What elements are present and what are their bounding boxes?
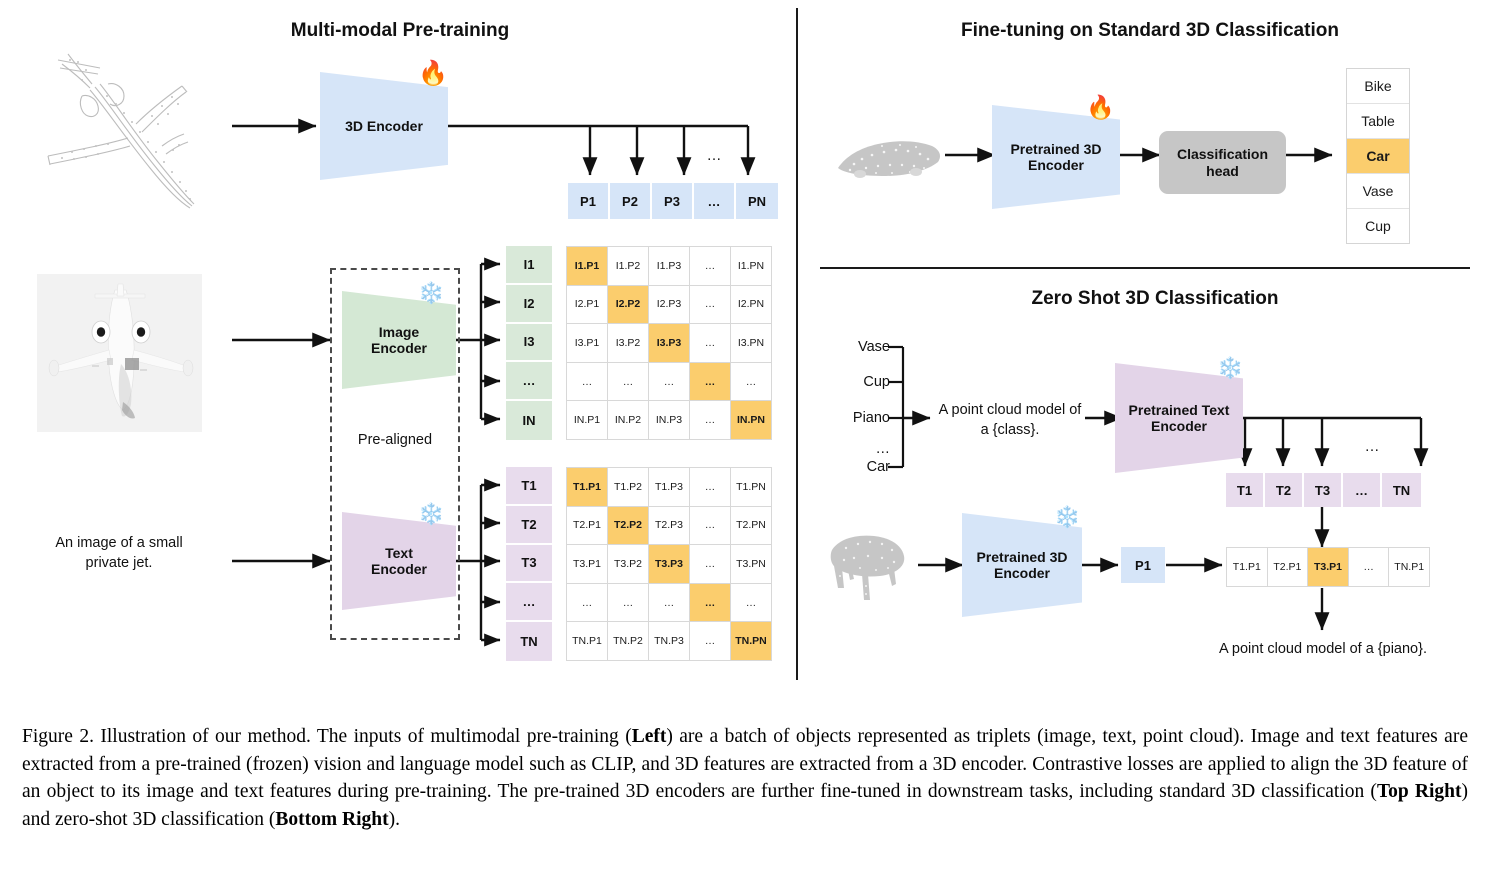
zeroshot-score-cell[interactable]: TN.P1 (1389, 548, 1430, 587)
class-list-item[interactable]: Table (1347, 104, 1409, 139)
image-similarity-cell[interactable]: … (567, 363, 608, 402)
text-similarity-cell[interactable]: T2.P1 (567, 507, 608, 546)
image-similarity-cell[interactable]: … (690, 286, 731, 325)
encoder-3d[interactable]: 3D Encoder (320, 72, 448, 180)
i-label[interactable]: IN (506, 401, 552, 440)
image-feature-label-column: I1 I2 I3 … IN (506, 246, 552, 440)
image-similarity-cell[interactable]: IN.P1 (567, 401, 608, 440)
image-similarity-cell[interactable]: I1.P2 (608, 247, 649, 286)
t-label[interactable]: T3 (506, 545, 552, 584)
pretrained-3d-encoder-finetune[interactable]: Pretrained 3D Encoder (992, 105, 1120, 209)
text-similarity-cell[interactable]: T2.P2 (608, 507, 649, 546)
classification-output-list: BikeTableCarVaseCup (1346, 68, 1410, 244)
zeroshot-p-token-box: P1 (1121, 547, 1165, 583)
zeroshot-class-name: … (834, 440, 890, 460)
p-token[interactable]: PN (736, 183, 778, 219)
zeroshot-p-token[interactable]: P1 (1121, 547, 1165, 583)
text-similarity-cell[interactable]: … (690, 545, 731, 584)
figure-caption: Figure 2. Illustration of our method. Th… (22, 723, 1468, 834)
image-similarity-cell[interactable]: I2.P3 (649, 286, 690, 325)
text-similarity-cell[interactable]: … (690, 622, 731, 661)
image-similarity-cell[interactable]: … (690, 401, 731, 440)
image-similarity-cell[interactable]: … (690, 324, 731, 363)
horizontal-divider (820, 267, 1470, 269)
image-similarity-cell[interactable]: I1.P1 (567, 247, 608, 286)
text-similarity-cell[interactable]: … (731, 584, 772, 623)
text-similarity-cell[interactable]: … (690, 584, 731, 623)
text-similarity-cell[interactable]: … (567, 584, 608, 623)
snowflake-icon-image-encoder: ❄️ (418, 283, 444, 304)
piano-point-cloud (824, 524, 920, 608)
caption-emphasis: Top Right (1377, 781, 1462, 802)
i-label[interactable]: I1 (506, 246, 552, 285)
zeroshot-t-token[interactable]: T1 (1226, 473, 1265, 507)
i-label[interactable]: … (506, 362, 552, 401)
zeroshot-score-cell[interactable]: T2.P1 (1268, 548, 1309, 587)
encoder-3d-label: 3D Encoder (345, 118, 423, 134)
text-similarity-cell[interactable]: T3.P1 (567, 545, 608, 584)
zeroshot-score-cell[interactable]: … (1349, 548, 1390, 587)
t-label[interactable]: … (506, 583, 552, 622)
p-token-strip: P1 P2 P3 … PN (568, 183, 778, 219)
zeroshot-score-row: T1.P1T2.P1T3.P1…TN.P1 (1226, 547, 1430, 587)
text-similarity-cell[interactable]: T2.P3 (649, 507, 690, 546)
fire-icon-pretrain: 🔥 (418, 62, 448, 86)
image-similarity-cell[interactable]: … (608, 363, 649, 402)
zeroshot-t-token[interactable]: TN (1382, 473, 1421, 507)
image-similarity-cell[interactable]: I3.P3 (649, 324, 690, 363)
text-similarity-cell[interactable]: T3.PN (731, 545, 772, 584)
zeroshot-class-name: Car (834, 458, 890, 478)
image-similarity-cell[interactable]: IN.PN (731, 401, 772, 440)
bottom-right-panel-title: Zero Shot 3D Classification (945, 288, 1365, 310)
text-point-similarity-matrix: T1.P1T1.P2T1.P3…T1.PNT2.P1T2.P2T2.P3…T2.… (566, 467, 772, 661)
snowflake-icon-text-encoder-zeroshot: ❄️ (1217, 358, 1243, 379)
caption-emphasis: Bottom Right (275, 809, 388, 830)
image-similarity-cell[interactable]: … (690, 363, 731, 402)
zeroshot-t-token-strip: T1 T2 T3 … TN (1226, 473, 1421, 507)
image-similarity-cell[interactable]: I1.PN (731, 247, 772, 286)
airplane-point-cloud (12, 38, 236, 220)
pretrained-3d-encoder-finetune-label: Pretrained 3D Encoder (1010, 141, 1101, 173)
snowflake-icon-text-encoder: ❄️ (418, 504, 444, 525)
zeroshot-t-token[interactable]: … (1343, 473, 1382, 507)
classification-head[interactable]: Classification head (1159, 131, 1286, 194)
text-similarity-cell[interactable]: T1.P1 (567, 468, 608, 507)
text-similarity-cell[interactable]: TN.PN (731, 622, 772, 661)
class-list-item[interactable]: Car (1347, 139, 1409, 174)
image-similarity-cell[interactable]: I2.P2 (608, 286, 649, 325)
class-list-item[interactable]: Bike (1347, 69, 1409, 104)
zeroshot-class-name: Piano (824, 409, 890, 429)
p-strip-ellipsis: … (696, 146, 732, 166)
image-similarity-cell[interactable]: IN.P2 (608, 401, 649, 440)
pre-aligned-label: Pre-aligned (330, 431, 460, 451)
text-similarity-cell[interactable]: TN.P2 (608, 622, 649, 661)
image-similarity-cell[interactable]: I2.P1 (567, 286, 608, 325)
p-token[interactable]: P1 (568, 183, 610, 219)
text-feature-label-column: T1 T2 T3 … TN (506, 467, 552, 661)
zeroshot-score-cell[interactable]: T3.P1 (1308, 548, 1349, 587)
zeroshot-t-token[interactable]: T3 (1304, 473, 1343, 507)
pretrained-text-encoder-label: Pretrained Text Encoder (1129, 402, 1230, 434)
zeroshot-t-token[interactable]: T2 (1265, 473, 1304, 507)
text-similarity-cell[interactable]: T1.P3 (649, 468, 690, 507)
image-point-similarity-matrix: I1.P1I1.P2I1.P3…I1.PNI2.P1I2.P2I2.P3…I2.… (566, 246, 772, 440)
text-encoder[interactable]: Text Encoder (342, 512, 456, 610)
text-similarity-cell[interactable]: T3.P3 (649, 545, 690, 584)
prompt-template-text: A point cloud model of a {class}. (932, 401, 1088, 440)
t-label[interactable]: TN (506, 622, 552, 661)
image-similarity-cell[interactable]: I2.PN (731, 286, 772, 325)
zeroshot-class-name: Vase (834, 338, 890, 358)
caption-text: ). (389, 809, 400, 830)
image-similarity-cell[interactable]: I3.P1 (567, 324, 608, 363)
text-similarity-cell[interactable]: … (690, 507, 731, 546)
car-point-cloud (832, 126, 944, 188)
input-text-prompt: An image of a small private jet. (28, 534, 210, 573)
image-similarity-cell[interactable]: I3.P2 (608, 324, 649, 363)
text-similarity-cell[interactable]: … (608, 584, 649, 623)
zeroshot-score-cell[interactable]: T1.P1 (1227, 548, 1268, 587)
image-encoder[interactable]: Image Encoder (342, 291, 456, 389)
p-token[interactable]: P2 (610, 183, 652, 219)
image-similarity-cell[interactable]: I3.PN (731, 324, 772, 363)
fire-icon-finetune: 🔥 (1086, 96, 1115, 119)
t-strip-ellipsis: … (1356, 437, 1388, 457)
text-similarity-cell[interactable]: TN.P3 (649, 622, 690, 661)
p-token[interactable]: … (694, 183, 736, 219)
image-encoder-label: Image Encoder (371, 324, 427, 356)
text-similarity-cell[interactable]: T1.P2 (608, 468, 649, 507)
zeroshot-output-text: A point cloud model of a {piano}. (1178, 640, 1468, 660)
t-label[interactable]: T1 (506, 467, 552, 506)
text-encoder-label: Text Encoder (371, 545, 427, 577)
i-label[interactable]: I3 (506, 324, 552, 363)
zeroshot-class-name: Cup (834, 373, 890, 393)
top-right-panel-title: Fine-tuning on Standard 3D Classificatio… (900, 20, 1400, 42)
text-similarity-cell[interactable]: TN.P1 (567, 622, 608, 661)
caption-emphasis: Left (632, 726, 667, 747)
t-label[interactable]: T2 (506, 506, 552, 545)
i-label[interactable]: I2 (506, 285, 552, 324)
rendered-jet-image (37, 274, 202, 432)
pretrained-3d-encoder-zeroshot-label: Pretrained 3D Encoder (976, 549, 1067, 581)
image-similarity-cell[interactable]: I1.P3 (649, 247, 690, 286)
text-similarity-cell[interactable]: T2.PN (731, 507, 772, 546)
text-similarity-cell[interactable]: … (649, 584, 690, 623)
text-similarity-cell[interactable]: T1.PN (731, 468, 772, 507)
caption-text: Figure 2. Illustration of our method. Th… (22, 726, 632, 747)
image-similarity-cell[interactable]: … (649, 363, 690, 402)
left-panel-title: Multi-modal Pre-training (240, 20, 560, 42)
text-similarity-cell[interactable]: … (690, 468, 731, 507)
class-list-item[interactable]: Cup (1347, 209, 1409, 243)
p-token[interactable]: P3 (652, 183, 694, 219)
text-similarity-cell[interactable]: T3.P2 (608, 545, 649, 584)
class-list-item[interactable]: Vase (1347, 174, 1409, 209)
image-similarity-cell[interactable]: … (690, 247, 731, 286)
snowflake-icon-3d-encoder-zeroshot: ❄️ (1054, 507, 1080, 528)
image-similarity-cell[interactable]: … (731, 363, 772, 402)
classification-head-label: Classification head (1177, 146, 1268, 180)
vertical-divider (796, 8, 798, 680)
image-similarity-cell[interactable]: IN.P3 (649, 401, 690, 440)
figure-root: Multi-modal Pre-training (0, 0, 1490, 888)
